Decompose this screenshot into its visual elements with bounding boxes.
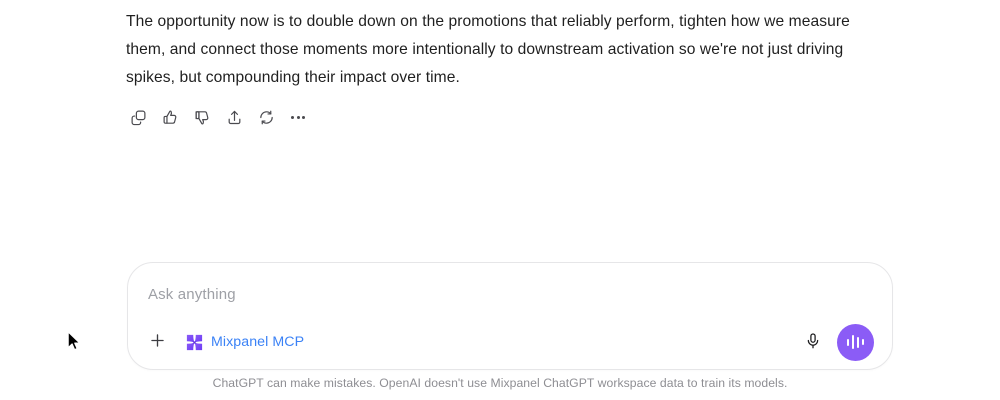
dictate-button[interactable]: [800, 329, 826, 355]
chat-page: The opportunity now is to double down on…: [0, 0, 1000, 400]
voice-mode-button[interactable]: [837, 324, 874, 361]
microphone-icon: [804, 332, 822, 353]
more-options-button[interactable]: [286, 105, 310, 129]
share-button[interactable]: [222, 105, 246, 129]
mouse-pointer: [67, 331, 83, 353]
thumbs-up-button[interactable]: [158, 105, 182, 129]
assistant-message: The opportunity now is to double down on…: [126, 8, 886, 92]
plus-icon: [148, 331, 167, 353]
waveform-bar: [857, 337, 860, 348]
copy-button[interactable]: [126, 105, 150, 129]
add-attachment-button[interactable]: [144, 329, 170, 355]
mixpanel-logo-icon: [185, 333, 204, 352]
copy-icon: [130, 109, 147, 126]
thumbs-up-icon: [162, 109, 179, 126]
mixpanel-mcp-connector-button[interactable]: Mixpanel MCP: [185, 333, 304, 352]
waveform-bar: [847, 339, 850, 346]
more-options-icon: [291, 116, 305, 119]
composer-toolbar: Mixpanel MCP: [128, 315, 892, 369]
share-icon: [226, 109, 243, 126]
composer-placeholder[interactable]: Ask anything: [148, 286, 236, 303]
footer-disclaimer: ChatGPT can make mistakes. OpenAI doesn'…: [0, 376, 1000, 390]
waveform-bar: [852, 335, 855, 349]
regenerate-icon: [258, 109, 275, 126]
regenerate-button[interactable]: [254, 105, 278, 129]
thumbs-down-button[interactable]: [190, 105, 214, 129]
thumbs-down-icon: [194, 109, 211, 126]
mixpanel-mcp-label: Mixpanel MCP: [211, 334, 304, 350]
waveform-bar: [862, 339, 865, 345]
composer[interactable]: Ask anything: [127, 262, 893, 370]
message-action-bar: [126, 105, 310, 129]
assistant-message-text: The opportunity now is to double down on…: [126, 8, 886, 92]
